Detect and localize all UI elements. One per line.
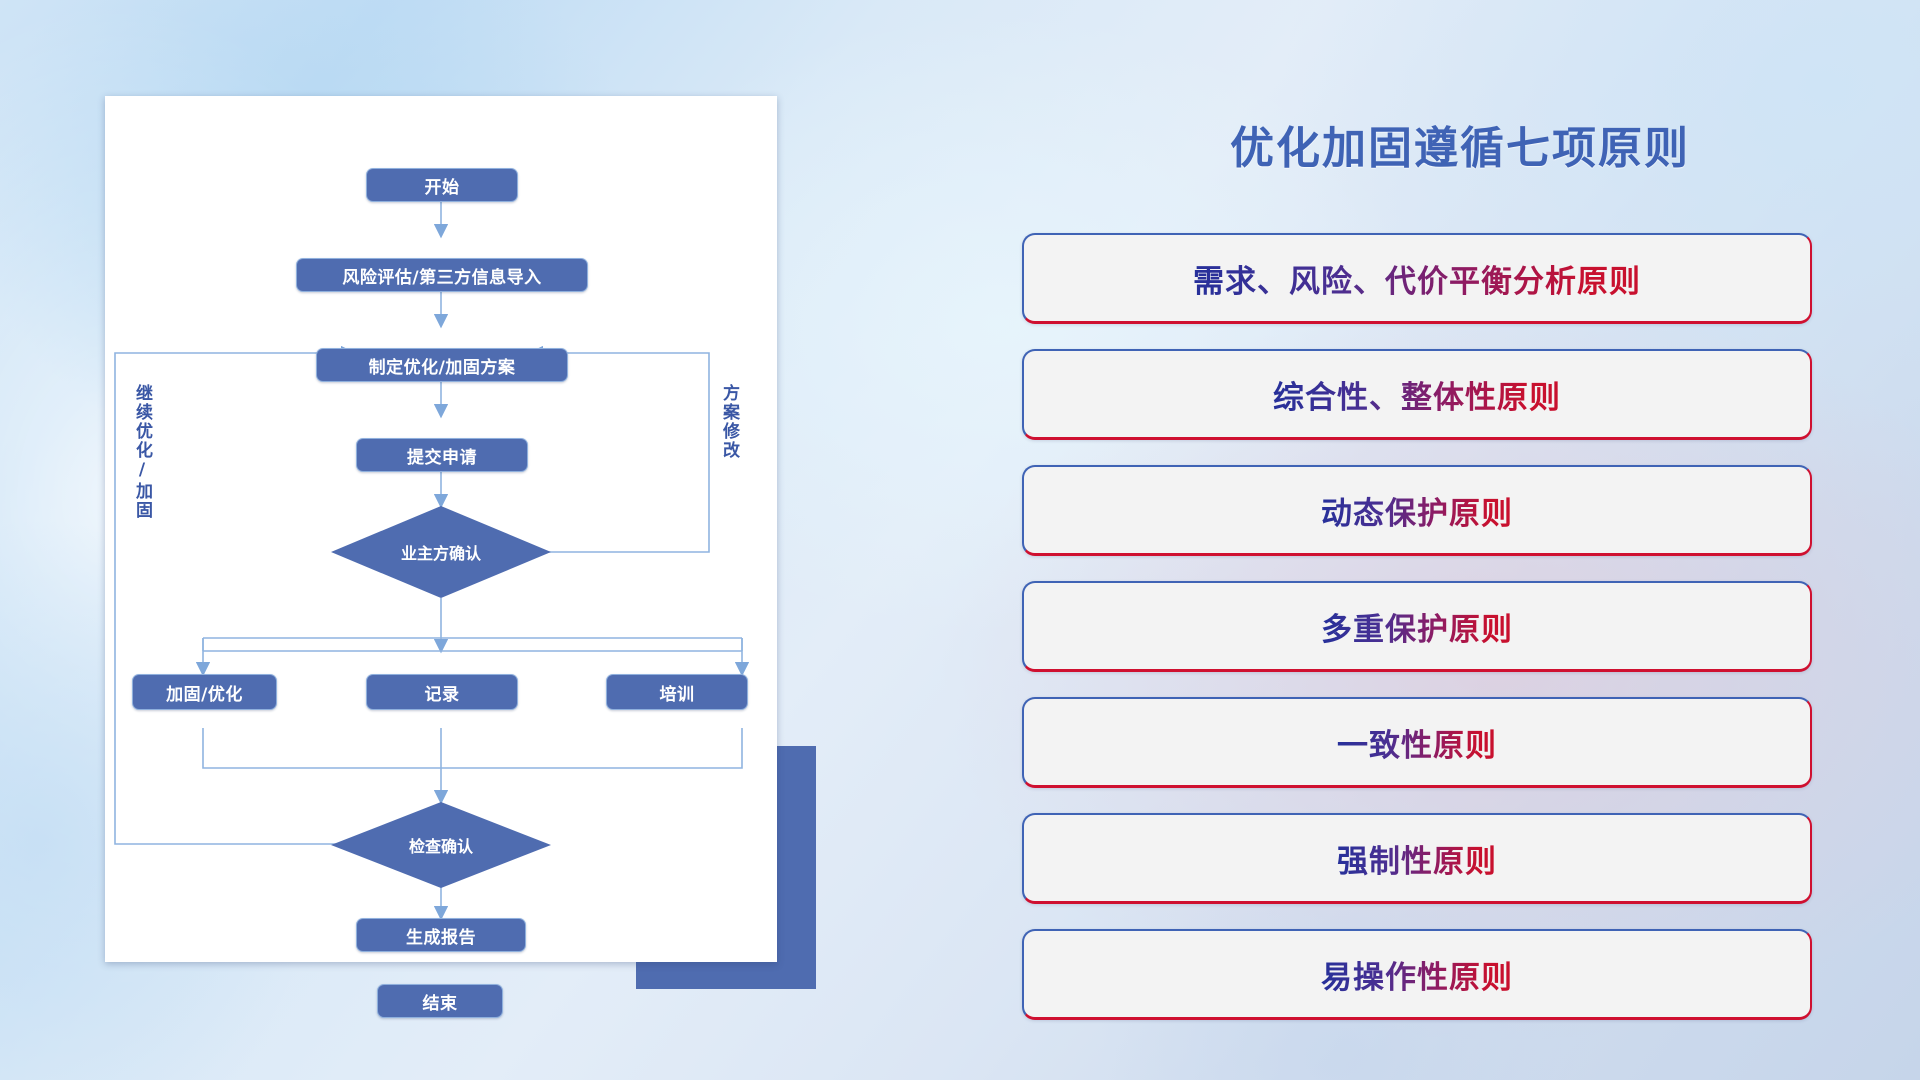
flow-node-plan[interactable]: 制定优化/加固方案 bbox=[316, 348, 568, 382]
flow-node-end[interactable]: 结束 bbox=[377, 984, 503, 1018]
flow-node-label: 生成报告 bbox=[406, 923, 476, 948]
principle-label: 需求、风险、代价平衡分析原则 bbox=[1193, 256, 1641, 301]
flow-node-label: 结束 bbox=[423, 989, 458, 1014]
principle-card-3[interactable]: 动态保护原则 bbox=[1022, 465, 1812, 556]
flow-node-harden[interactable]: 加固/优化 bbox=[132, 674, 277, 710]
principle-card-1[interactable]: 需求、风险、代价平衡分析原则 bbox=[1022, 233, 1812, 324]
principle-card-4[interactable]: 多重保护原则 bbox=[1022, 581, 1812, 672]
flow-node-label: 记录 bbox=[425, 680, 460, 705]
principle-label: 综合性、整体性原则 bbox=[1273, 372, 1561, 417]
principles-list: 需求、风险、代价平衡分析原则 综合性、整体性原则 动态保护原则 多重保护原则 一… bbox=[1022, 233, 1812, 1045]
page-title: 优化加固遵循七项原则 bbox=[1150, 112, 1770, 176]
flow-node-label: 风险评估/第三方信息导入 bbox=[342, 263, 541, 288]
flow-node-label: 提交申请 bbox=[407, 443, 477, 468]
flow-node-record[interactable]: 记录 bbox=[366, 674, 518, 710]
flow-node-label: 检查确认 bbox=[409, 833, 473, 857]
principle-card-5[interactable]: 一致性原则 bbox=[1022, 697, 1812, 788]
flow-node-risk-assessment[interactable]: 风险评估/第三方信息导入 bbox=[296, 258, 588, 292]
flow-node-label: 加固/优化 bbox=[166, 680, 243, 705]
principle-label: 多重保护原则 bbox=[1321, 604, 1513, 649]
principle-card-2[interactable]: 综合性、整体性原则 bbox=[1022, 349, 1812, 440]
principle-card-6[interactable]: 强制性原则 bbox=[1022, 813, 1812, 904]
principle-label: 强制性原则 bbox=[1337, 836, 1497, 881]
flow-edge-label-left: 继续优化/加固 bbox=[133, 384, 150, 520]
flow-node-start[interactable]: 开始 bbox=[366, 168, 518, 202]
flow-node-label: 业主方确认 bbox=[401, 540, 481, 564]
flow-node-label: 制定优化/加固方案 bbox=[369, 353, 516, 378]
flow-edge-label-right: 方案修改 bbox=[720, 384, 737, 460]
flow-node-label: 培训 bbox=[660, 680, 695, 705]
principle-label: 动态保护原则 bbox=[1321, 488, 1513, 533]
principle-label: 一致性原则 bbox=[1337, 720, 1497, 765]
flow-node-report[interactable]: 生成报告 bbox=[356, 918, 526, 952]
flow-node-submit[interactable]: 提交申请 bbox=[356, 438, 528, 472]
flow-node-training[interactable]: 培训 bbox=[606, 674, 748, 710]
principle-card-7[interactable]: 易操作性原则 bbox=[1022, 929, 1812, 1020]
flow-node-label: 开始 bbox=[425, 173, 460, 198]
flowchart-card: 开始 风险评估/第三方信息导入 制定优化/加固方案 提交申请 业主方确认 加固/… bbox=[105, 96, 777, 962]
principle-label: 易操作性原则 bbox=[1321, 952, 1513, 997]
